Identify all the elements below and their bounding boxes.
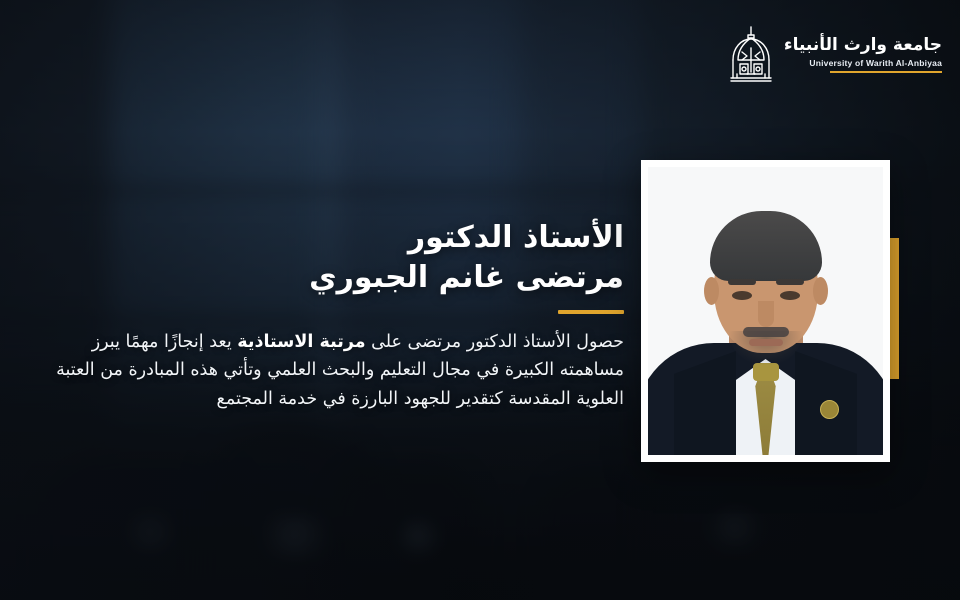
body-text-emphasis: مرتبة الاستاذية <box>237 332 365 352</box>
university-name-english: University of Warith Al-Anbiyaa <box>784 59 942 68</box>
portrait-frame <box>641 160 890 462</box>
photo-moustache <box>743 327 789 337</box>
university-logo-text: جامعة وارث الأنبياء University of Warith… <box>784 37 942 74</box>
photo-ear <box>704 277 719 305</box>
gold-divider <box>558 310 624 314</box>
photo-eyebrow <box>728 279 756 285</box>
photo-eye <box>780 291 800 300</box>
photo-eyebrow <box>776 279 804 285</box>
photo-ear <box>813 277 828 305</box>
shrine-dome-emblem-icon <box>728 26 774 84</box>
headline-line-1: الأستاذ الدكتور <box>324 218 624 258</box>
announcement-banner: جامعة وارث الأنبياء University of Warith… <box>0 0 960 600</box>
photo-lapel-pin <box>820 400 839 419</box>
photo-mouth <box>749 339 783 346</box>
photo-nose <box>758 301 774 327</box>
logo-underline <box>830 71 942 73</box>
portrait-photo <box>648 167 883 455</box>
photo-eye <box>732 291 752 300</box>
headline: الأستاذ الدكتور مرتضى غانم الجبوري <box>324 218 624 314</box>
university-logo: جامعة وارث الأنبياء University of Warith… <box>728 26 942 84</box>
photo-tie-knot <box>753 363 779 381</box>
headline-line-2: مرتضى غانم الجبوري <box>324 258 624 298</box>
body-text-run: حصول الأستاذ الدكتور مرتضى على <box>366 332 624 352</box>
body-paragraph: حصول الأستاذ الدكتور مرتضى على مرتبة الا… <box>34 328 624 413</box>
university-name-arabic: جامعة وارث الأنبياء <box>784 37 942 54</box>
